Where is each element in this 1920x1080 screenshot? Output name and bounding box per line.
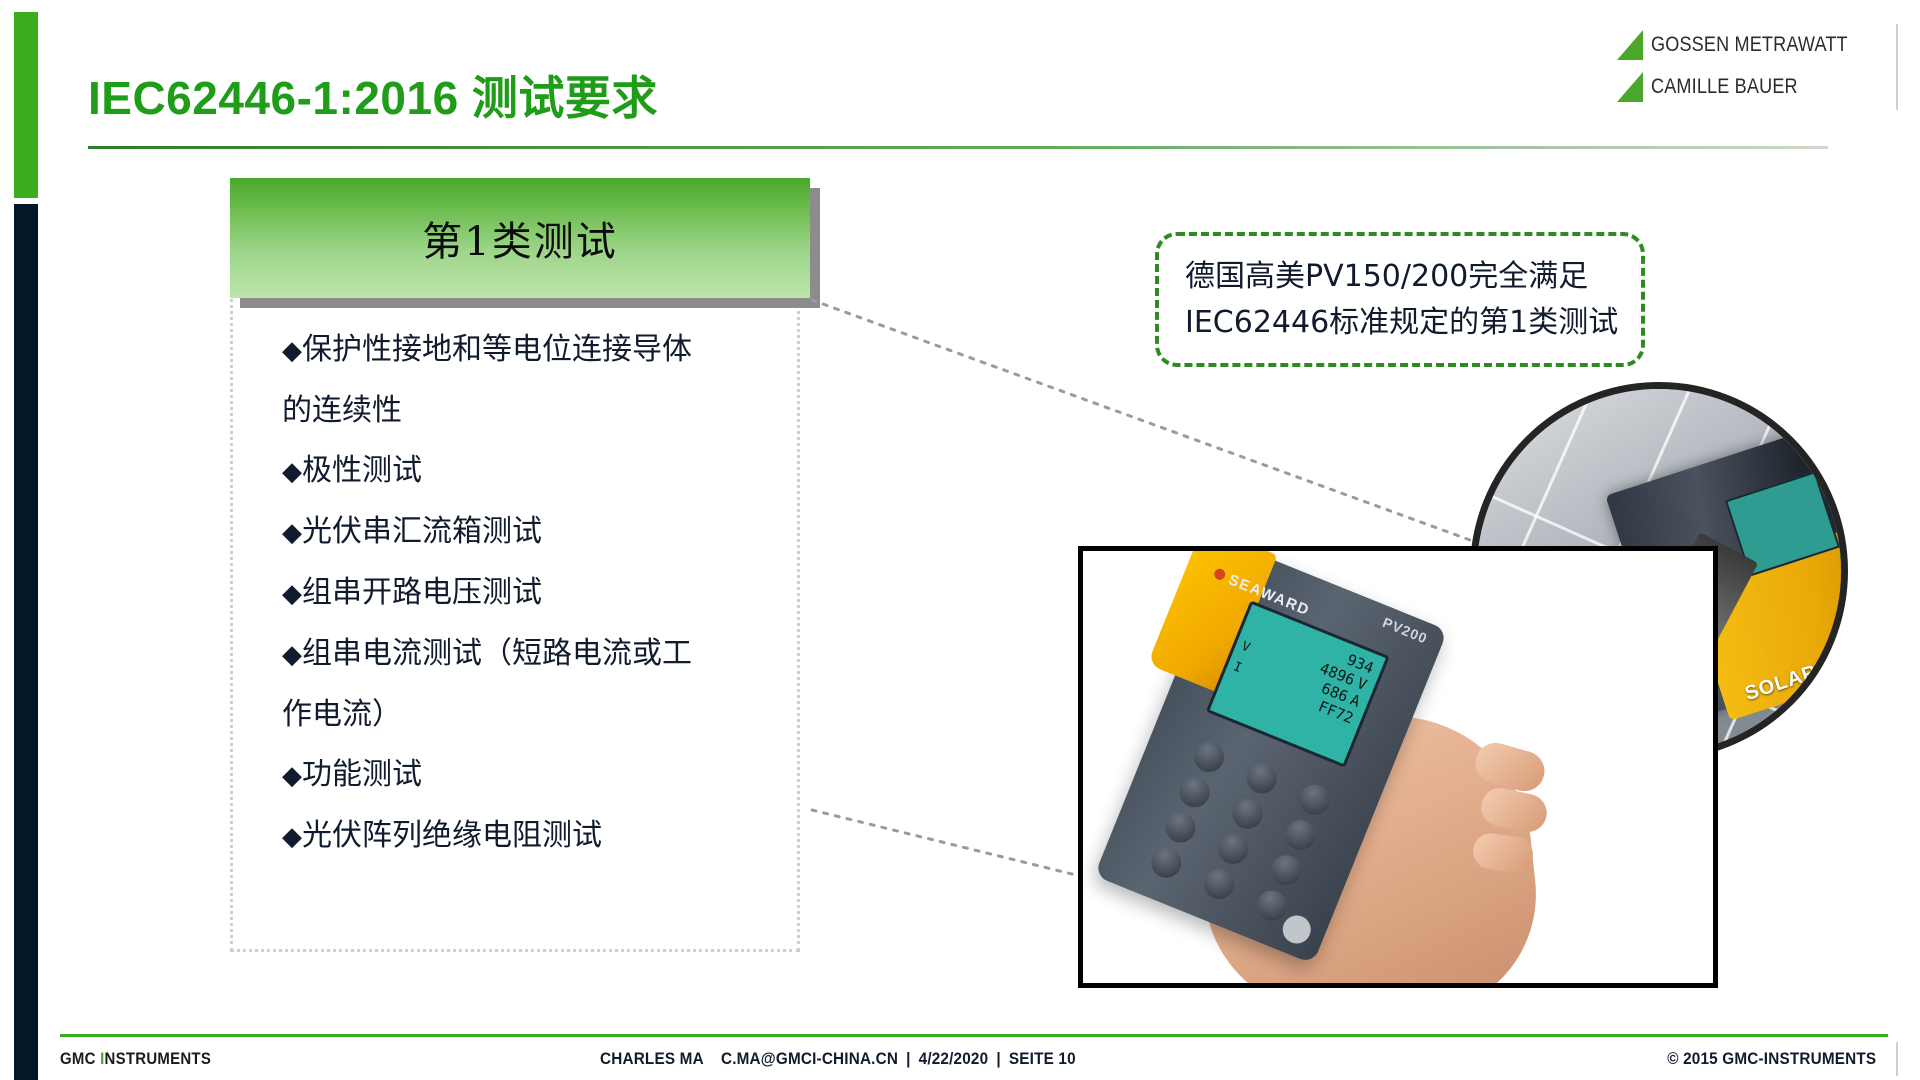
callout-line-1: 德国高美PV150/200完全满足 bbox=[1185, 254, 1641, 300]
device-key bbox=[1214, 829, 1253, 868]
bullet-item: ◆光伏串汇流箱测试 bbox=[282, 502, 802, 563]
title-underline bbox=[88, 146, 1828, 149]
bullet-marker-icon: ◆ bbox=[282, 518, 302, 548]
footer-email: C.MA@GMCI-CHINA.CN bbox=[721, 1049, 898, 1068]
device-key bbox=[1242, 759, 1281, 798]
bullet-text: 组串开路电压测试 bbox=[302, 575, 542, 610]
bullet-item: ◆功能测试 bbox=[282, 745, 802, 806]
bullet-item: ◆保护性接地和等电位连接导体 bbox=[282, 320, 802, 381]
bullet-text: 保护性接地和等电位连接导体 bbox=[302, 332, 692, 367]
device-key bbox=[1281, 815, 1320, 854]
bullet-marker-icon: ◆ bbox=[282, 640, 302, 670]
footer-divider bbox=[60, 1034, 1888, 1037]
bullet-marker-icon: ◆ bbox=[282, 822, 302, 852]
page-title: IEC62446-1:2016 测试要求 bbox=[88, 62, 658, 128]
brand-name-gossen: GOSSEN METRAWATT bbox=[1651, 33, 1848, 57]
bullet-text: 功能测试 bbox=[302, 757, 422, 792]
footer-company-prefix: GMC bbox=[60, 1049, 100, 1068]
bullet-item: ◆极性测试 bbox=[282, 441, 802, 502]
left-accent-bar-green bbox=[14, 12, 38, 198]
device-keypad bbox=[1134, 729, 1348, 932]
brand-name-camille: CAMILLE BAUER bbox=[1651, 75, 1798, 99]
bullet-list: ◆保护性接地和等电位连接导体的连续性◆极性测试◆光伏串汇流箱测试◆组串开路电压测… bbox=[282, 320, 802, 867]
bullet-text: 光伏阵列绝缘电阻测试 bbox=[302, 818, 602, 853]
bullet-text: 组串电流测试（短路电流或工 bbox=[302, 636, 692, 671]
footer-meta: CHARLES MA C.MA@GMCI-CHINA.CN | 4/22/202… bbox=[600, 1049, 1076, 1069]
brand-row-gossen: GOSSEN METRAWATT bbox=[1617, 30, 1880, 60]
triangle-icon bbox=[1617, 72, 1643, 102]
triangle-icon bbox=[1617, 30, 1643, 60]
footer-separator: | bbox=[903, 1049, 915, 1068]
footer-company: GMC INSTRUMENTS bbox=[60, 1049, 211, 1069]
bullet-text: 极性测试 bbox=[302, 453, 422, 488]
bullet-item-continuation: 作电流） bbox=[282, 685, 802, 745]
footer-company-suffix: NSTRUMENTS bbox=[105, 1049, 212, 1068]
device-key bbox=[1200, 865, 1239, 904]
bullet-text: 光伏串汇流箱测试 bbox=[302, 514, 542, 549]
brand-logo: GOSSEN METRAWATT CAMILLE BAUER bbox=[1617, 30, 1880, 102]
device-key bbox=[1176, 773, 1215, 812]
device-key bbox=[1228, 794, 1267, 833]
footer-page: SEITE 10 bbox=[1009, 1049, 1076, 1068]
callout-box: 德国高美PV150/200完全满足 IEC62446标准规定的第1类测试 bbox=[1155, 232, 1645, 367]
brand-row-camille: CAMILLE BAUER bbox=[1617, 72, 1822, 102]
bullet-item: ◆组串开路电压测试 bbox=[282, 563, 802, 624]
device-key bbox=[1190, 738, 1229, 777]
category-box-label: 第1类测试 bbox=[422, 209, 617, 267]
device-key bbox=[1266, 851, 1305, 890]
bullet-marker-icon: ◆ bbox=[282, 579, 302, 609]
bullet-marker-icon: ◆ bbox=[282, 761, 302, 791]
left-accent-bar-dark bbox=[14, 204, 38, 1080]
bullet-item-continuation: 的连续性 bbox=[282, 381, 802, 441]
device-model-label: PV200 bbox=[1380, 614, 1430, 646]
bullet-marker-icon: ◆ bbox=[282, 457, 302, 487]
bullet-item: ◆组串电流测试（短路电流或工 bbox=[282, 624, 802, 685]
bullet-item: ◆光伏阵列绝缘电阻测试 bbox=[282, 806, 802, 867]
bullet-marker-icon: ◆ bbox=[282, 336, 302, 366]
footer-separator: | bbox=[993, 1049, 1005, 1068]
device-key bbox=[1147, 843, 1186, 882]
footer-author: CHARLES MA bbox=[600, 1049, 703, 1068]
footer-date: 4/22/2020 bbox=[919, 1049, 989, 1068]
footer-right-divider bbox=[1896, 1042, 1898, 1076]
callout-line-2: IEC62446标准规定的第1类测试 bbox=[1185, 300, 1641, 346]
footer-copyright: © 2015 GMC-INSTRUMENTS bbox=[1667, 1049, 1876, 1069]
main-product-photo: SEAWARD PV200 934 4896V 686A FF72 V I bbox=[1078, 546, 1718, 988]
brand-divider bbox=[1896, 24, 1898, 110]
category-box: 第1类测试 bbox=[230, 178, 810, 298]
device-key bbox=[1295, 780, 1334, 819]
device-key bbox=[1161, 808, 1200, 847]
